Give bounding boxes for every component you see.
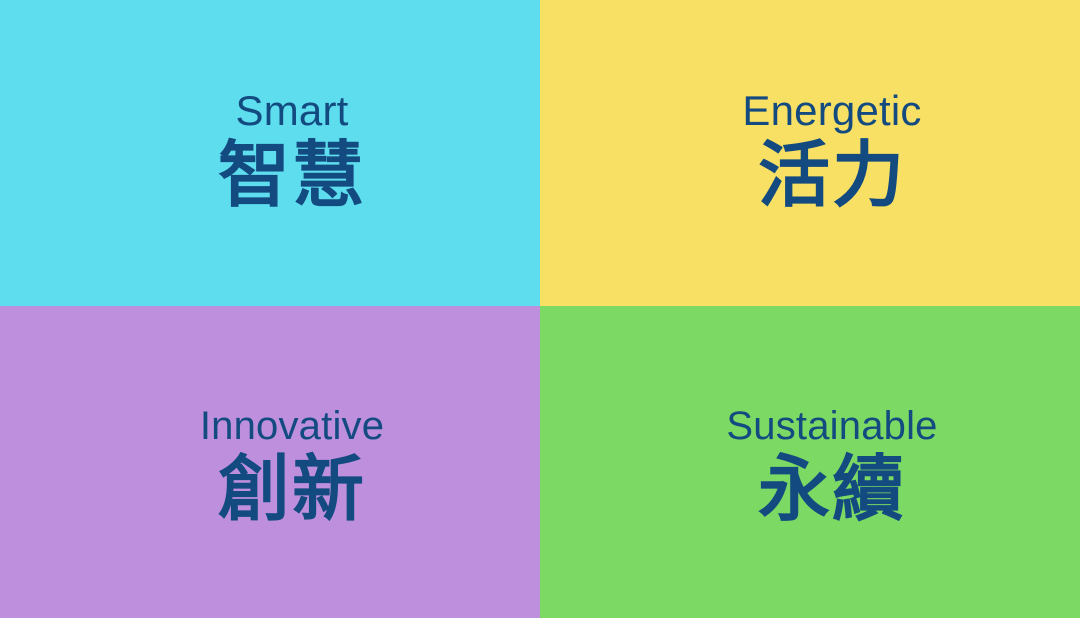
value-block-smart: Smart 智慧 [218,90,366,216]
value-label-zh-smart: 智慧 [218,138,366,216]
value-block-sustainable: Sustainable 永續 [726,406,937,530]
quadrant-sustainable[interactable]: Sustainable 永續 [540,306,1080,618]
value-label-zh-innovative: 創新 [218,452,366,530]
quadrant-smart[interactable]: Smart 智慧 [0,0,540,306]
value-label-zh-sustainable: 永續 [758,452,906,530]
value-label-zh-energetic: 活力 [758,138,906,216]
value-label-en-energetic: Energetic [742,90,921,132]
value-block-energetic: Energetic 活力 [742,90,921,216]
value-label-en-sustainable: Sustainable [726,406,937,446]
quadrant-innovative[interactable]: Innovative 創新 [0,306,540,618]
value-label-en-innovative: Innovative [200,406,384,446]
quadrant-energetic[interactable]: Energetic 活力 [540,0,1080,306]
value-grid: Smart 智慧 Energetic 活力 Innovative 創新 Sust… [0,0,1080,618]
value-block-innovative: Innovative 創新 [200,406,384,530]
value-label-en-smart: Smart [235,90,348,132]
